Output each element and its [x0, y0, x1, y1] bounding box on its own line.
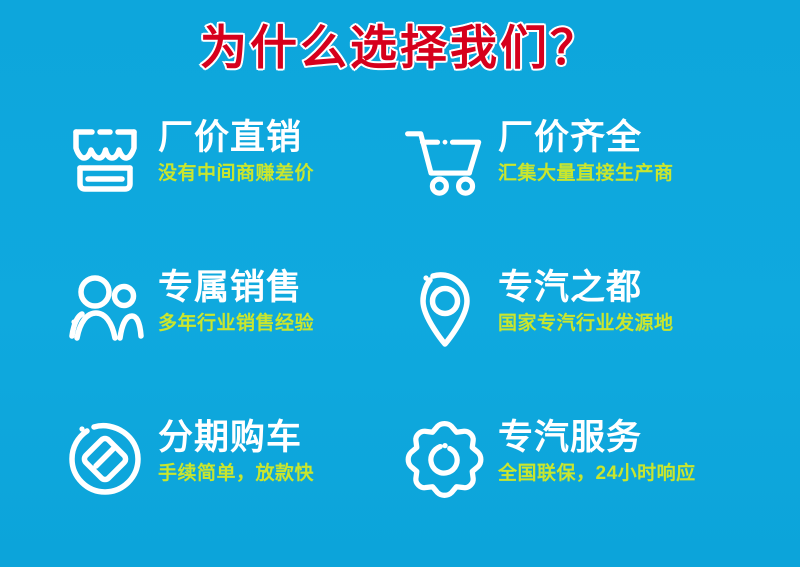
feature-text: 厂价直销 没有中间商赚差价 — [158, 112, 314, 186]
feature-text: 专属销售 多年行业销售经验 — [158, 262, 314, 336]
feature-subtitle: 国家专汽行业发源地 — [498, 313, 674, 336]
feature-title: 分期购车 — [158, 418, 314, 457]
feature-subtitle: 手续简单，放款快 — [158, 463, 314, 486]
feature-item-factory-direct-sales: 厂价直销 没有中间商赚差价 — [0, 112, 380, 262]
feature-item-dedicated-sales: 专属销售 多年行业销售经验 — [0, 262, 380, 412]
feature-text: 分期购车 手续简单，放款快 — [158, 412, 314, 486]
feature-subtitle: 没有中间商赚差价 — [158, 163, 314, 186]
feature-item-special-vehicle-capital: 专汽之都 国家专汽行业发源地 — [380, 262, 800, 412]
feature-subtitle: 汇集大量直接生产商 — [498, 163, 674, 186]
feature-title: 专汽之都 — [498, 268, 674, 307]
two-people-icon — [62, 266, 148, 352]
feature-title: 厂价直销 — [158, 118, 314, 157]
feature-title: 专属销售 — [158, 268, 314, 307]
feature-subtitle: 全国联保，24小时响应 — [498, 463, 696, 486]
feature-title: 专汽服务 — [498, 418, 696, 457]
feature-subtitle: 多年行业销售经验 — [158, 313, 314, 336]
feature-item-special-vehicle-service: 专汽服务 全国联保，24小时响应 — [380, 412, 800, 562]
storefront-icon — [62, 116, 148, 202]
promo-banner: 为什么选择我们？ 厂价直销 没有中间商赚差价 — [0, 0, 800, 567]
feature-text: 专汽之都 国家专汽行业发源地 — [498, 262, 674, 336]
feature-text: 专汽服务 全国联保，24小时响应 — [498, 412, 696, 486]
banner-title-area: 为什么选择我们？ — [0, 22, 800, 74]
shopping-cart-icon — [402, 116, 488, 202]
feature-grid: 厂价直销 没有中间商赚差价 厂价齐全 汇集大量直接生产商 — [0, 112, 800, 532]
page-title: 为什么选择我们？ — [200, 22, 600, 74]
feature-item-full-price-range: 厂价齐全 汇集大量直接生产商 — [380, 112, 800, 262]
feature-title: 厂价齐全 — [498, 118, 674, 157]
gear-icon — [402, 416, 488, 502]
diamond-in-circle-icon — [62, 416, 148, 502]
feature-text: 厂价齐全 汇集大量直接生产商 — [498, 112, 674, 186]
feature-item-installment-purchase: 分期购车 手续简单，放款快 — [0, 412, 380, 562]
location-pin-icon — [402, 266, 488, 352]
